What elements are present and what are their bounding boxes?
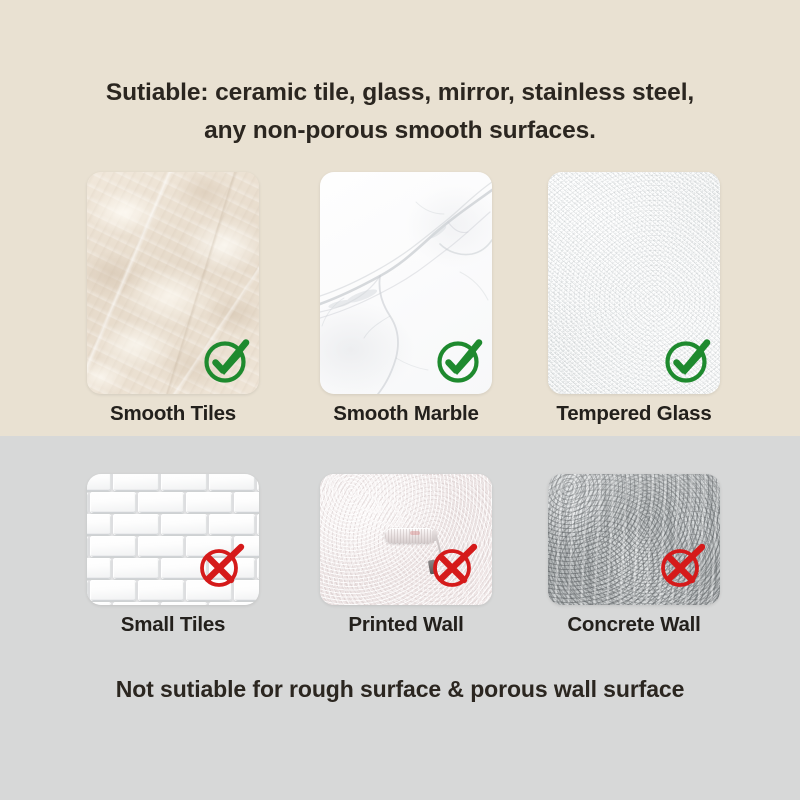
surface-label-small-tiles: Small Tiles (87, 613, 259, 637)
surface-label-smooth-tiles: Smooth Tiles (87, 402, 259, 426)
surface-compatibility-infographic: Sutiable: ceramic tile, glass, mirror, s… (0, 0, 800, 800)
footer-caption-text: Not sutiable for rough surface & porous … (0, 676, 800, 703)
travertine-texture (87, 172, 259, 394)
surface-image-smooth-tiles (87, 172, 259, 394)
concrete-texture (548, 474, 720, 605)
surface-image-tempered-glass (548, 172, 720, 394)
frosted-glass-texture (548, 172, 720, 394)
marble-texture (320, 172, 492, 394)
surface-image-concrete-wall (548, 474, 720, 605)
subway-tile-texture (87, 474, 259, 605)
marble-veining (320, 172, 492, 394)
surface-image-printed-wall (320, 474, 492, 605)
painted-wall-texture (320, 474, 492, 605)
surface-image-small-tiles (87, 474, 259, 605)
surface-label-printed-wall: Printed Wall (320, 613, 492, 637)
surface-card-tempered-glass: Tempered Glass (548, 172, 720, 394)
surface-card-printed-wall: Printed Wall (320, 474, 492, 605)
surface-image-smooth-marble (320, 172, 492, 394)
subway-tile-grid (87, 474, 259, 605)
paint-roller-icon (385, 528, 441, 543)
surface-label-smooth-marble: Smooth Marble (320, 402, 492, 426)
surface-card-concrete-wall: Concrete Wall (548, 474, 720, 605)
surface-card-smooth-tiles: Smooth Tiles (87, 172, 259, 394)
surface-card-smooth-marble: Smooth Marble (320, 172, 492, 394)
surface-card-small-tiles: Small Tiles (87, 474, 259, 605)
headline-text: Sutiable: ceramic tile, glass, mirror, s… (0, 74, 800, 150)
surface-label-tempered-glass: Tempered Glass (548, 402, 720, 426)
surface-label-concrete-wall: Concrete Wall (548, 613, 720, 637)
